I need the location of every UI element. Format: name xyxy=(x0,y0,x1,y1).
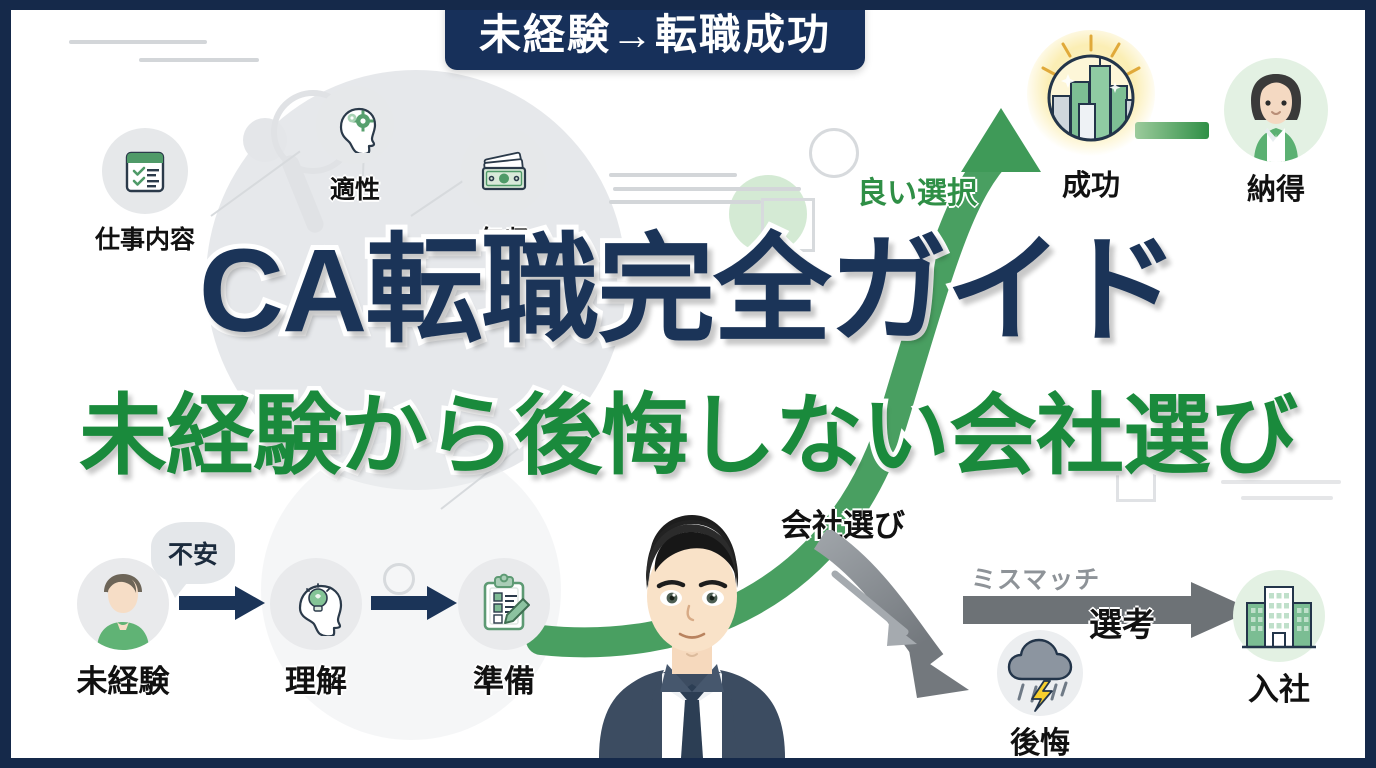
top-banner: 未経験→転職成功 xyxy=(445,10,865,70)
regret-label: 後悔 xyxy=(981,718,1099,758)
person-avatar-icon xyxy=(77,558,169,650)
thumbnail-canvas: 未経験→転職成功 仕事内容 xyxy=(11,10,1365,758)
head-lightbulb-icon xyxy=(270,558,362,650)
storm-cloud-icon xyxy=(997,630,1083,716)
journey-step-understanding: 理解 xyxy=(261,558,371,701)
success-pod: 成功 xyxy=(1011,30,1171,204)
checklist-icon xyxy=(102,128,188,214)
regret-pod: 後悔 xyxy=(981,630,1099,758)
head-gears-icon xyxy=(316,86,394,164)
page-title-sub: 未経験から後悔しない会社選び xyxy=(11,392,1365,480)
journey-label: 未経験 xyxy=(63,656,183,701)
mismatch-thin-arrow xyxy=(831,570,951,670)
satisfaction-pod: 納得 xyxy=(1206,58,1346,208)
criteria-pod-aptitude: 適性 xyxy=(316,86,394,206)
top-banner-label: 未経験→転職成功 xyxy=(479,14,831,56)
journey-arrow-1 xyxy=(179,586,265,620)
background-line xyxy=(1241,496,1333,500)
office-building-icon xyxy=(1233,570,1325,662)
journey-step-preparation: 準備 xyxy=(449,558,559,701)
journey-label: 理解 xyxy=(261,656,371,701)
clipboard-pencil-icon xyxy=(458,558,550,650)
join-company-pod: 入社 xyxy=(1223,570,1335,709)
journey-label: 準備 xyxy=(449,656,559,701)
good-choice-label: 良い選択 xyxy=(857,168,977,212)
money-bills-icon xyxy=(461,128,547,214)
thumbnail-frame: 未経験→転職成功 仕事内容 xyxy=(0,0,1376,768)
journey-arrow-2 xyxy=(371,586,457,620)
journey-step-inexperienced: 未経験 xyxy=(63,558,183,701)
city-skyline-icon xyxy=(1027,30,1155,158)
page-title-main: CA転職完全ガイド xyxy=(11,232,1365,350)
woman-avatar-icon xyxy=(1224,58,1328,162)
criteria-label: 適性 xyxy=(316,170,394,206)
join-label: 入社 xyxy=(1223,664,1335,709)
success-label: 成功 xyxy=(1011,162,1171,204)
success-to-satisfaction-connector xyxy=(1135,122,1209,139)
satisfaction-label: 納得 xyxy=(1206,166,1346,208)
background-line xyxy=(139,58,259,62)
background-line xyxy=(69,40,207,44)
businessman-illustration xyxy=(567,478,817,758)
